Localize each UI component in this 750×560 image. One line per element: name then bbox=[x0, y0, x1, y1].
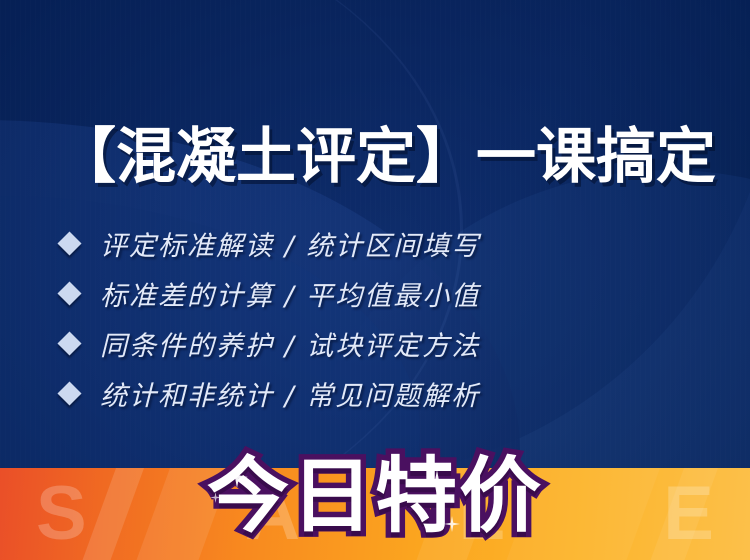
list-item-label: 统计和非统计 / 常见问题解析 bbox=[100, 374, 480, 413]
poster-content: 【混凝土评定】一课搞定 评定标准解读 / 统计区间填写 标准差的计算 / 平均值… bbox=[0, 0, 750, 560]
diamond-icon bbox=[57, 381, 81, 405]
list-item-label: 标准差的计算 / 平均值最小值 bbox=[100, 274, 480, 313]
promo-poster: 【混凝土评定】一课搞定 评定标准解读 / 统计区间填写 标准差的计算 / 平均值… bbox=[0, 0, 750, 560]
list-item-label: 评定标准解读 / 统计区间填写 bbox=[100, 224, 480, 263]
diamond-icon bbox=[57, 331, 81, 355]
list-item: 评定标准解读 / 统计区间填写 bbox=[58, 218, 678, 268]
page-title: 【混凝土评定】一课搞定 bbox=[56, 124, 716, 191]
feature-list: 评定标准解读 / 统计区间填写 标准差的计算 / 平均值最小值 同条件的养护 /… bbox=[58, 218, 678, 418]
list-item: 统计和非统计 / 常见问题解析 bbox=[58, 368, 678, 418]
list-item: 标准差的计算 / 平均值最小值 bbox=[58, 268, 678, 318]
list-item: 同条件的养护 / 试块评定方法 bbox=[58, 318, 678, 368]
list-item-label: 同条件的养护 / 试块评定方法 bbox=[100, 324, 480, 363]
sale-banner: S A L E 今日特价 bbox=[0, 468, 750, 560]
diamond-icon bbox=[57, 231, 81, 255]
diamond-icon bbox=[57, 281, 81, 305]
sale-headline: 今日特价 bbox=[0, 456, 750, 538]
